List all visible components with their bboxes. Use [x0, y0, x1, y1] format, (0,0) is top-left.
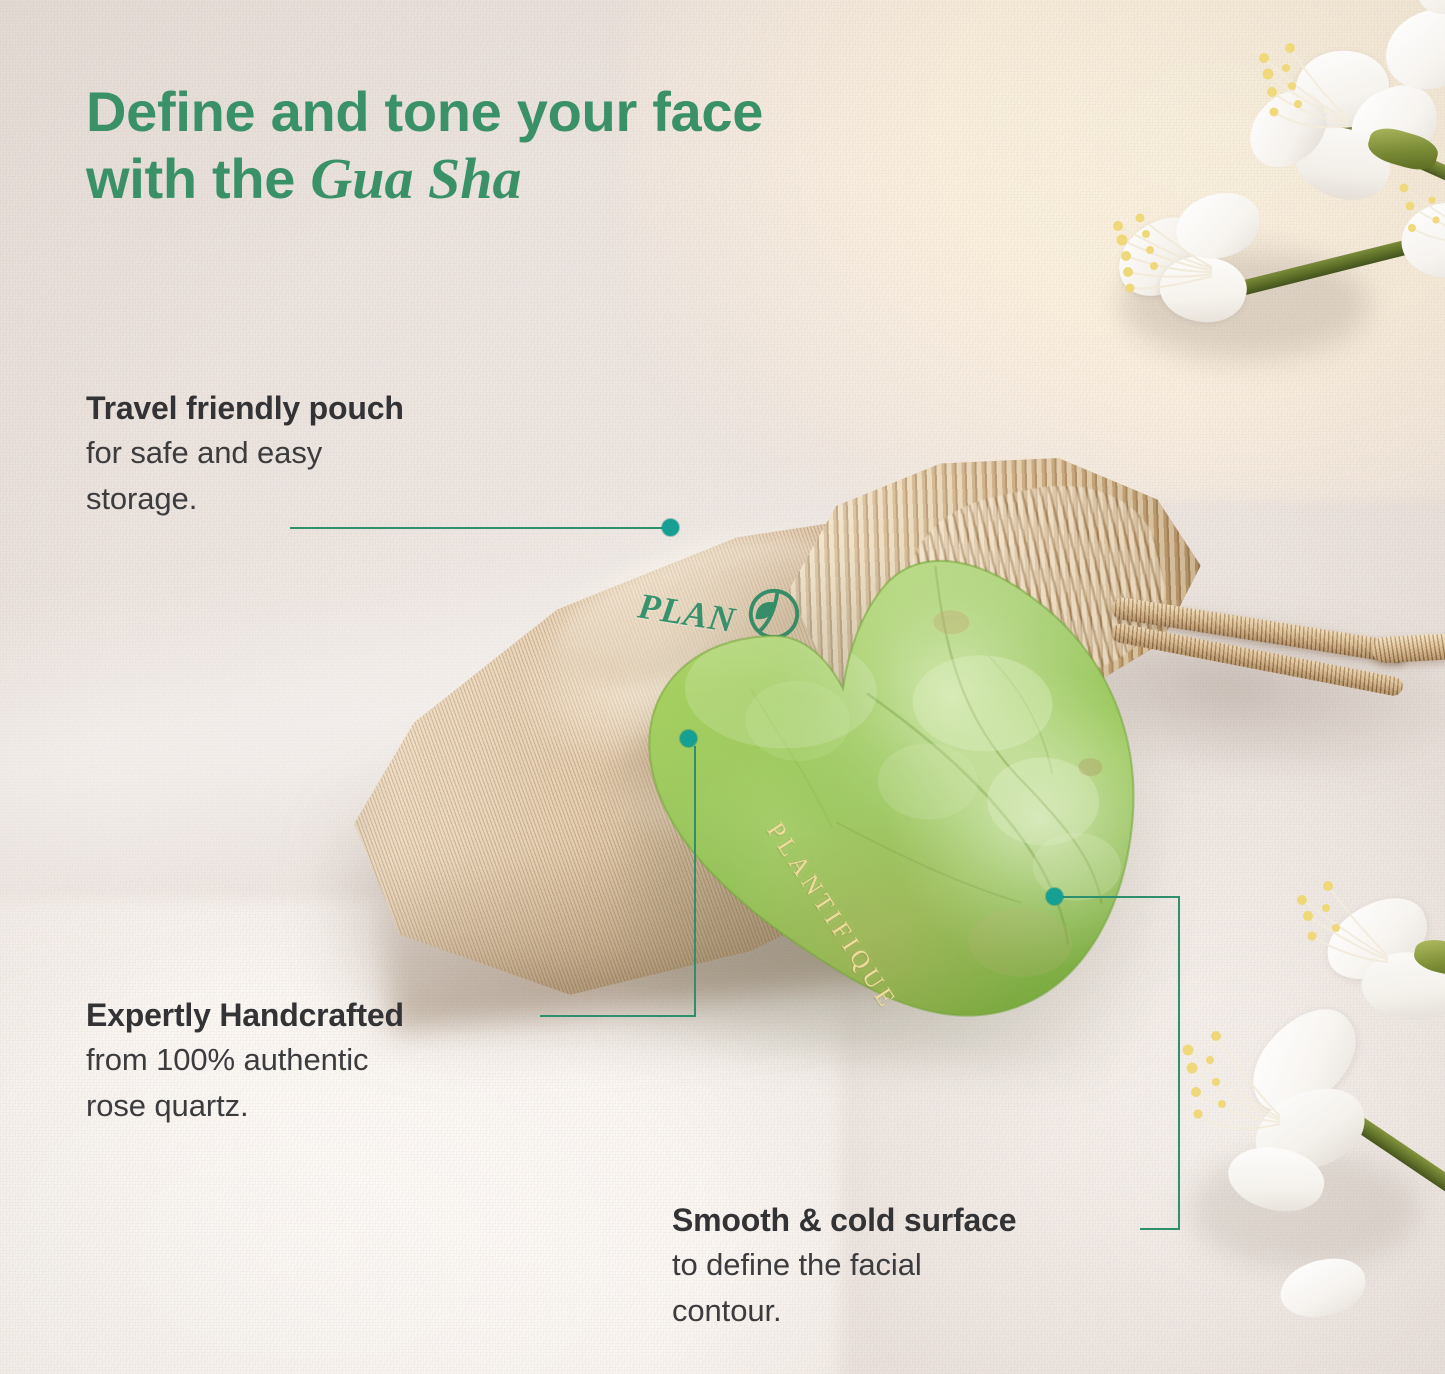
callout-travel-pouch: Travel friendly pouch for safe and easy …: [86, 388, 516, 521]
flower-blossom: [1380, 150, 1445, 330]
infographic-canvas: PLAN: [0, 0, 1445, 1374]
headline-prefix: with the: [86, 147, 310, 210]
callout-title: Smooth & cold surface: [672, 1200, 1142, 1240]
flower-stamens: [1401, 0, 1445, 16]
flower-stamens: [1270, 874, 1400, 984]
callout-body-line-1: from 100% authentic: [86, 1039, 526, 1081]
headline-line-1: Define and tone your face: [86, 80, 986, 145]
flower-stamens: [1228, 34, 1358, 144]
callout-title: Travel friendly pouch: [86, 388, 516, 428]
callout-body-line-1: to define the facial: [672, 1244, 1142, 1286]
callout-title: Expertly Handcrafted: [86, 995, 526, 1035]
flower-stamens: [1384, 166, 1445, 252]
callout-body-line-2: contour.: [672, 1290, 1142, 1332]
flower-cluster-bottom-right: [1170, 840, 1445, 1374]
callout-dot-pouch: [662, 519, 679, 536]
callout-dot-handcrafted: [680, 730, 697, 747]
callout-body-line-1: for safe and easy: [86, 432, 516, 474]
headline-line-2: with the Gua Sha: [86, 145, 986, 212]
flower-blossom: [1355, 0, 1445, 150]
flower-cluster-top-right: [1080, 0, 1445, 400]
flower-stamens: [1152, 1010, 1292, 1140]
flower-blossom: [1170, 990, 1400, 1220]
callout-handcrafted: Expertly Handcrafted from 100% authentic…: [86, 995, 526, 1128]
callout-dot-smooth: [1046, 888, 1063, 905]
gua-sha-stone: [619, 515, 1152, 1033]
callout-smooth-surface: Smooth & cold surface to define the faci…: [672, 1200, 1142, 1333]
flower-stamens: [1100, 204, 1220, 296]
page-title: Define and tone your face with the Gua S…: [86, 80, 986, 212]
callout-body-line-2: storage.: [86, 478, 516, 520]
headline-italic-term: Gua Sha: [310, 146, 521, 211]
flower-petal: [1379, 2, 1445, 95]
callout-body-line-2: rose quartz.: [86, 1085, 526, 1127]
